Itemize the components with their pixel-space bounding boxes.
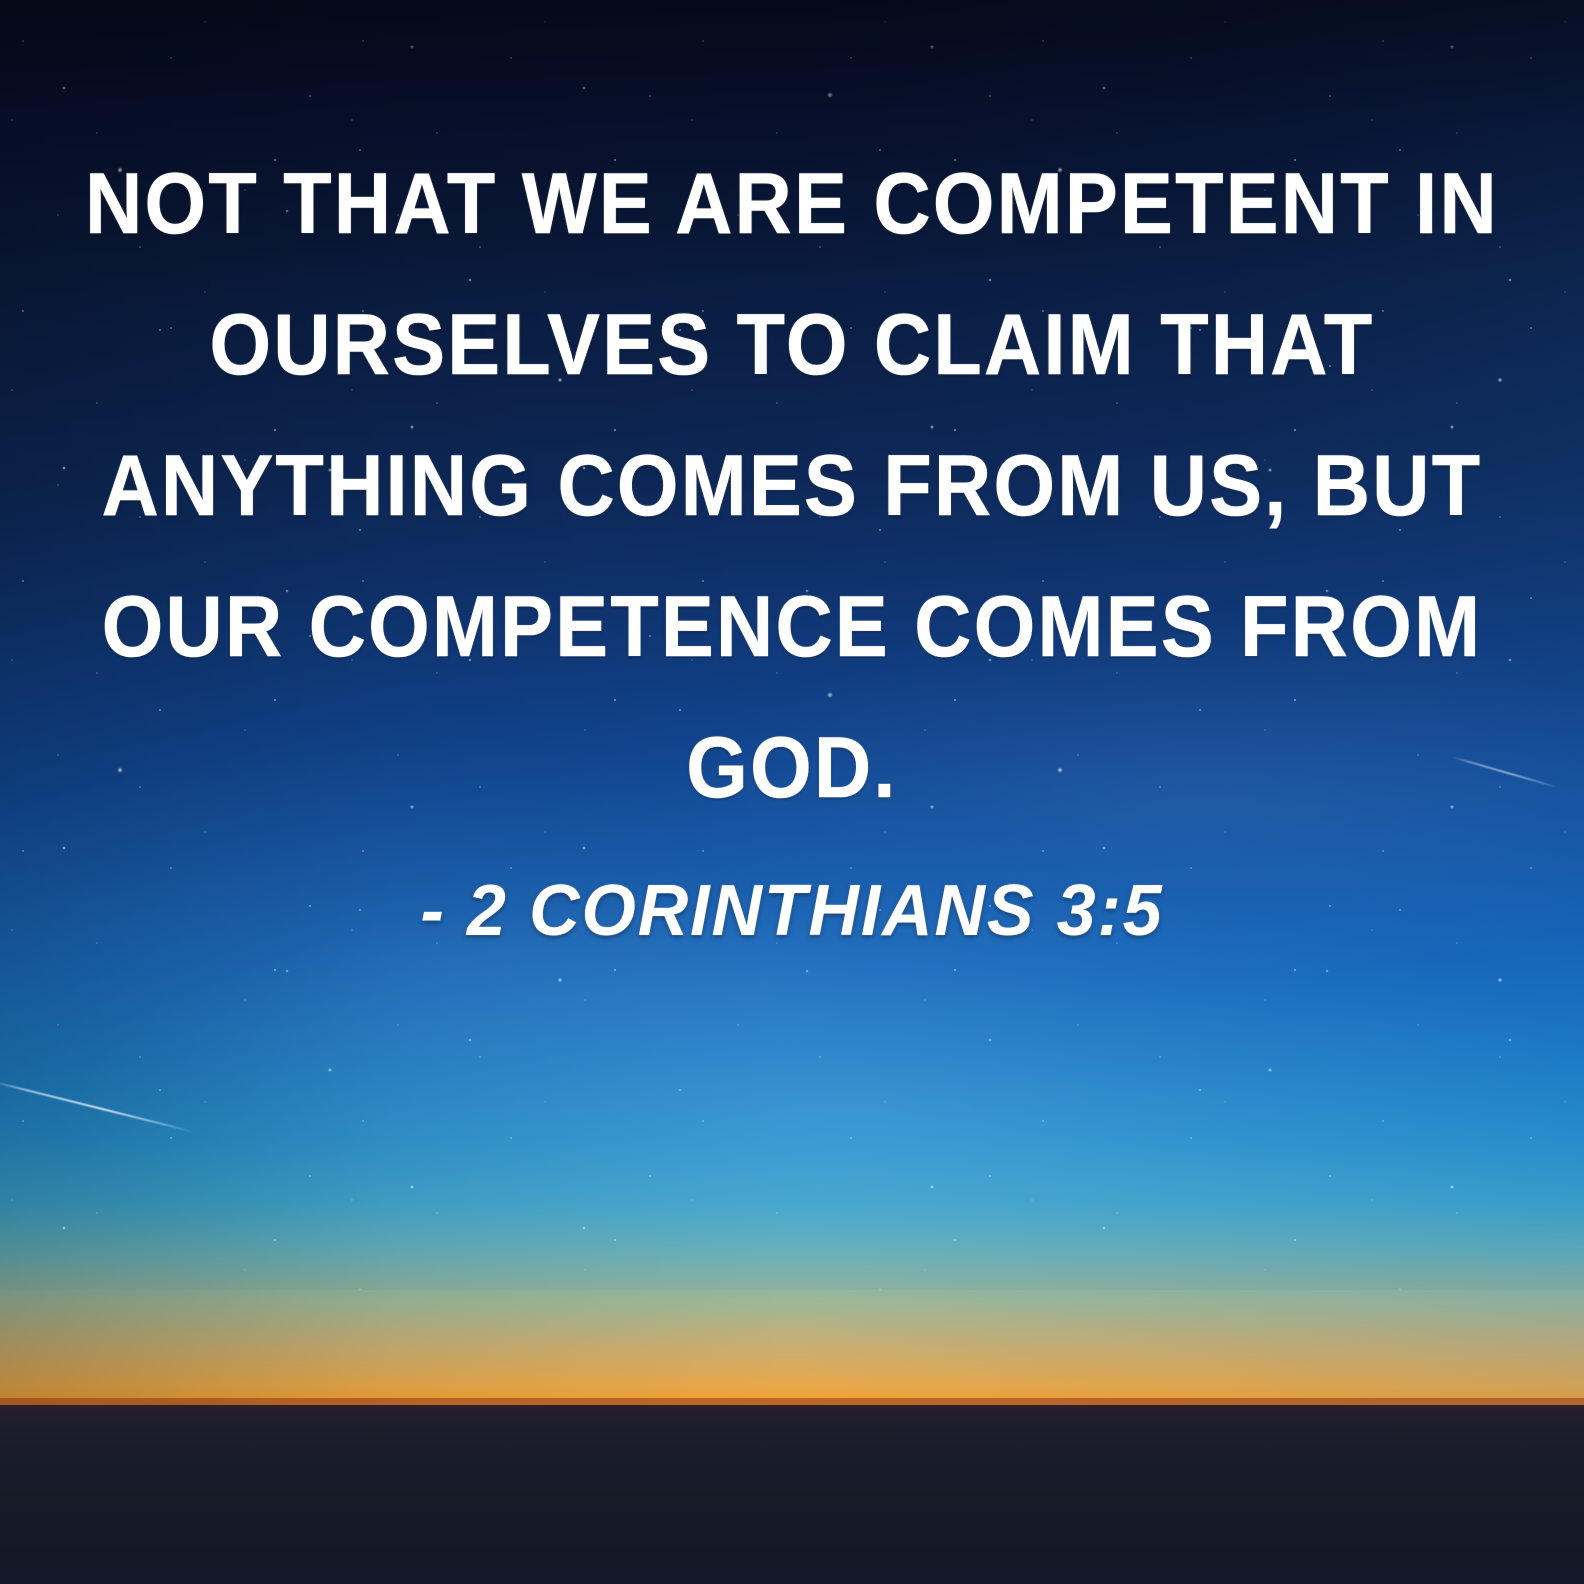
land-silhouette (0, 1405, 1584, 1584)
verse-line-4: OUR COMPETENCE COMES FROM (63, 557, 1520, 698)
verse-line-3: ANYTHING COMES FROM US, BUT (63, 416, 1520, 557)
verse-image-canvas: NOT THAT WE ARE COMPETENT IN OURSELVES T… (0, 0, 1584, 1584)
verse-reference: - 2 CORINTHIANS 3:5 (24, 872, 1560, 950)
verse-line-2: OURSELVES TO CLAIM THAT (63, 275, 1520, 416)
verse-line-5: GOD. (63, 698, 1520, 839)
verse-text-block: NOT THAT WE ARE COMPETENT IN OURSELVES T… (0, 134, 1584, 839)
verse-line-1: NOT THAT WE ARE COMPETENT IN (63, 134, 1520, 275)
